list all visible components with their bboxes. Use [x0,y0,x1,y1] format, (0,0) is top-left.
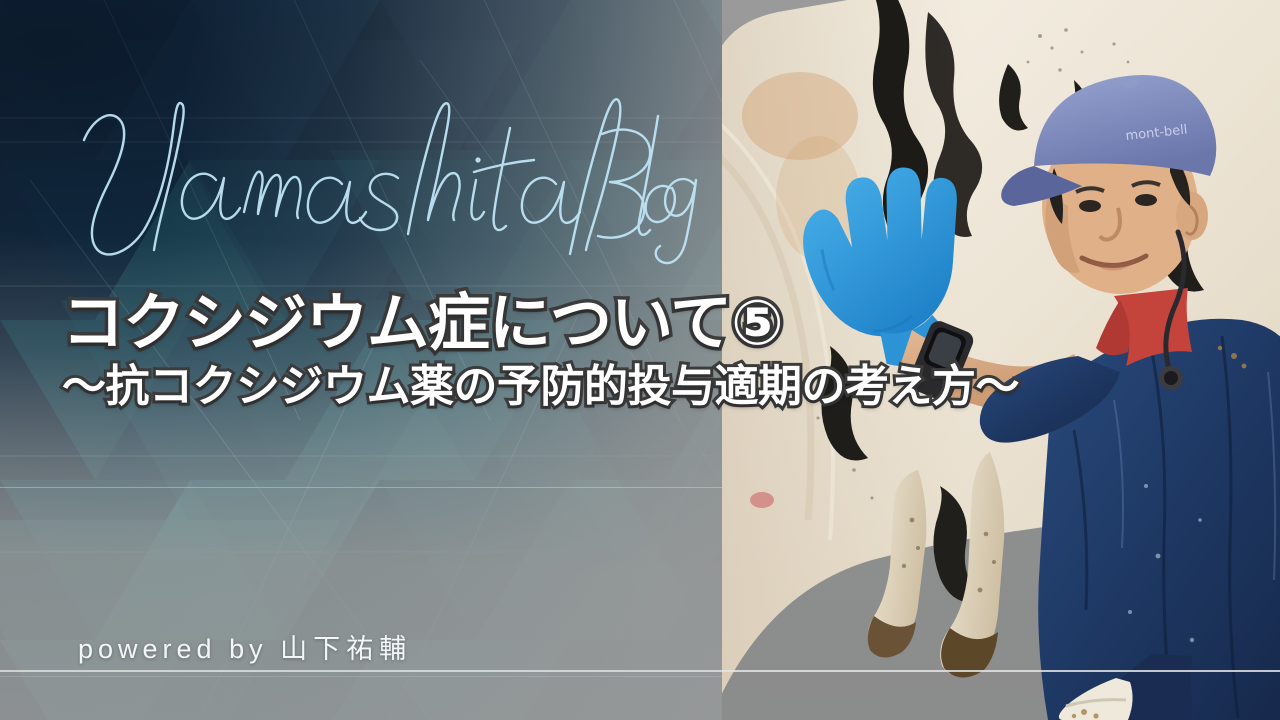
page-subtitle: 〜抗コクシジウム薬の予防的投与適期の考え方〜 [62,364,1072,410]
title-block: コクシジウム症について⑤ 〜抗コクシジウム薬の予防的投与適期の考え方〜 [62,292,1072,410]
page-title: コクシジウム症について⑤ [62,292,1072,354]
footer-author: 山下祐輔 [280,634,412,664]
footer-credit: powered by 山下祐輔 [78,627,412,666]
footer-prefix: powered by [78,634,280,664]
photo-hairline [722,670,1280,672]
blog-thumbnail-canvas: mont-bell [0,0,1280,720]
